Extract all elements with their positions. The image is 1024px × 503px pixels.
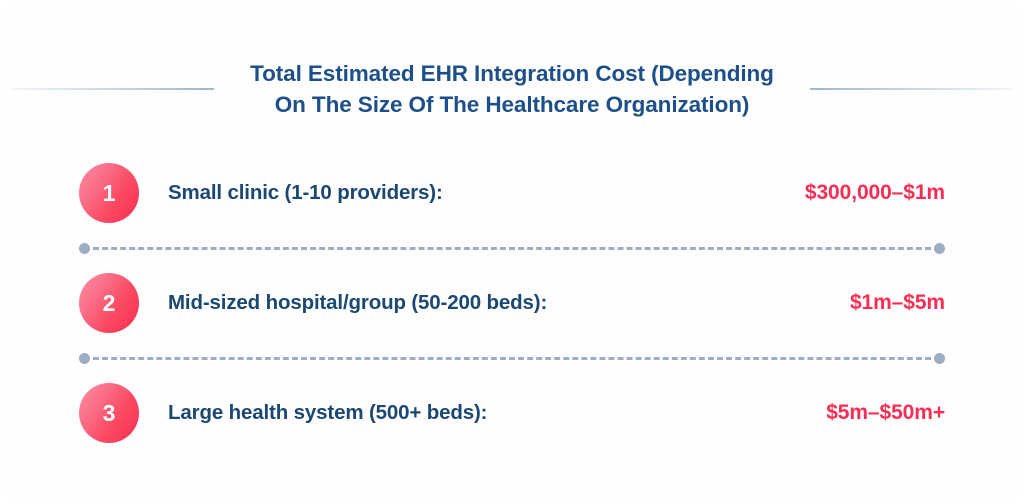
tier-description-label: Mid-sized hospital/group (50-200 beds): xyxy=(168,291,547,315)
title-rule-right-decoration xyxy=(810,88,1012,90)
tier-description-label: Small clinic (1-10 providers): xyxy=(168,181,443,205)
row-separator xyxy=(79,346,945,370)
tier-number-label: 1 xyxy=(103,182,116,205)
tier-number-badge: 1 xyxy=(79,163,139,223)
tier-cost-value: $1m–$5m xyxy=(850,291,945,315)
tier-number-badge: 2 xyxy=(79,273,139,333)
tier-number-badge: 3 xyxy=(79,383,139,443)
cost-tier-list: 1 Small clinic (1-10 providers): $300,00… xyxy=(0,150,1024,456)
separator-dot-right xyxy=(934,243,945,254)
tier-description-label: Large health system (500+ beds): xyxy=(168,401,487,425)
separator-dashed-line xyxy=(93,247,931,250)
page-title: Total Estimated EHR Integration Cost (De… xyxy=(232,58,792,120)
row-separator xyxy=(79,236,945,260)
tier-number-label: 3 xyxy=(103,402,116,425)
separator-dot-left xyxy=(79,353,90,364)
separator-dot-right xyxy=(934,353,945,364)
separator-dot-left xyxy=(79,243,90,254)
title-rule-left-decoration xyxy=(12,88,214,90)
list-item: 2 Mid-sized hospital/group (50-200 beds)… xyxy=(0,260,1024,346)
separator-dashed-line xyxy=(93,357,931,360)
tier-cost-value: $300,000–$1m xyxy=(805,181,945,205)
tier-number-label: 2 xyxy=(103,292,116,315)
tier-cost-value: $5m–$50m+ xyxy=(826,401,945,425)
title-block: Total Estimated EHR Integration Cost (De… xyxy=(0,58,1024,120)
infographic-card: Total Estimated EHR Integration Cost (De… xyxy=(0,0,1024,503)
list-item: 1 Small clinic (1-10 providers): $300,00… xyxy=(0,150,1024,236)
list-item: 3 Large health system (500+ beds): $5m–$… xyxy=(0,370,1024,456)
